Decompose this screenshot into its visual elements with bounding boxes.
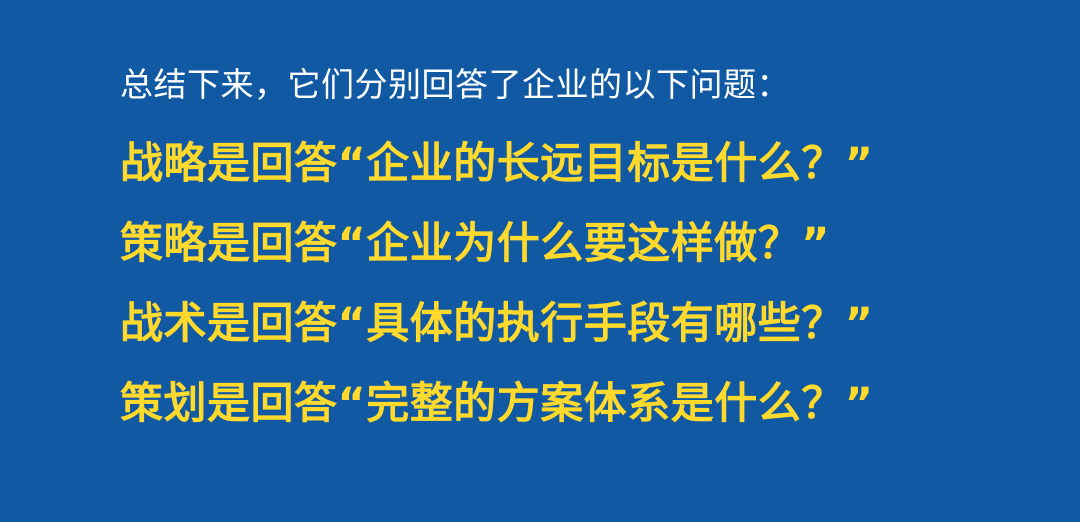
answer-line-strategy: 战略是回答“企业的长远目标是什么？” xyxy=(120,124,1040,204)
slide-content: 总结下来，它们分别回答了企业的以下问题： 战略是回答“企业的长远目标是什么？” … xyxy=(120,62,1040,444)
answer-line-tactics: 战术是回答“具体的执行手段有哪些？” xyxy=(120,284,1040,364)
answer-line-planning: 策划是回答“完整的方案体系是什么？” xyxy=(120,364,1040,444)
answer-line-tactic-policy: 策略是回答“企业为什么要这样做？” xyxy=(120,204,1040,284)
intro-paragraph: 总结下来，它们分别回答了企业的以下问题： xyxy=(120,62,1040,108)
answer-list: 战略是回答“企业的长远目标是什么？” 策略是回答“企业为什么要这样做？” 战术是… xyxy=(120,124,1040,444)
slide-canvas: 总结下来，它们分别回答了企业的以下问题： 战略是回答“企业的长远目标是什么？” … xyxy=(0,0,1080,522)
